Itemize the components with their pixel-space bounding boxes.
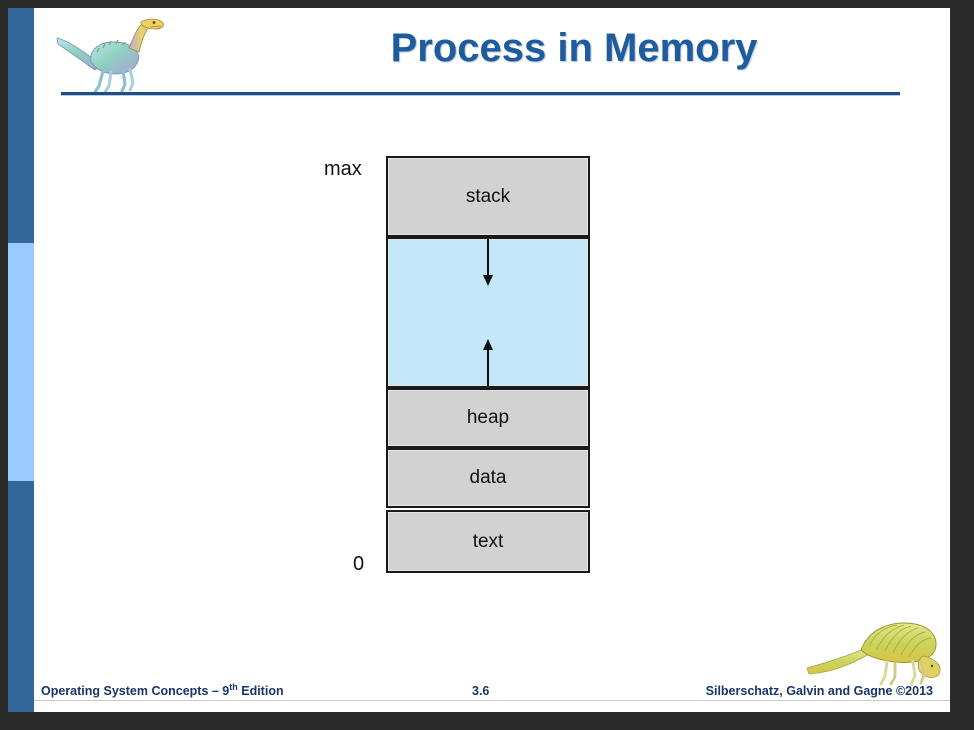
screen: Process in Memory max 0 stack [0, 0, 974, 730]
memory-segment-data-label: data [470, 467, 507, 489]
memory-segment-data: data [386, 448, 590, 508]
title-divider [61, 92, 900, 95]
memory-segment-text: text [386, 510, 590, 573]
memory-segment-heap: heap [386, 388, 590, 448]
sidebar-accent-top [8, 8, 34, 243]
footer-divider [34, 700, 950, 701]
slide-footer: Operating System Concepts – 9th Edition … [34, 678, 950, 712]
memory-segment-stack-label: stack [466, 186, 510, 208]
memory-segment-heap-label: heap [467, 407, 509, 429]
footer-edition: Operating System Concepts – 9th Edition [41, 682, 284, 698]
sidebar-accent-middle [8, 243, 34, 481]
presentation-slide: Process in Memory max 0 stack [8, 8, 950, 712]
slide-number: 3.6 [472, 684, 489, 698]
page-title: Process in Memory [234, 26, 914, 71]
slide-header: Process in Memory [34, 8, 950, 104]
footer-edition-prefix: Operating System Concepts – 9 [41, 684, 229, 698]
sidebar-accent-bottom [8, 481, 34, 712]
memory-segment-stack: stack [386, 156, 590, 237]
footer-edition-suffix: Edition [238, 684, 284, 698]
dinosaur-logo-icon [51, 14, 169, 94]
memory-segment-text-label: text [473, 531, 504, 553]
footer-edition-ordinal: th [229, 682, 238, 692]
footer-copyright: Silberschatz, Galvin and Gagne ©2013 [706, 684, 933, 698]
axis-label-zero: 0 [353, 553, 364, 576]
axis-label-max: max [324, 158, 362, 181]
process-memory-diagram: stack heap data text [386, 156, 590, 565]
memory-segment-free-space [386, 237, 590, 388]
